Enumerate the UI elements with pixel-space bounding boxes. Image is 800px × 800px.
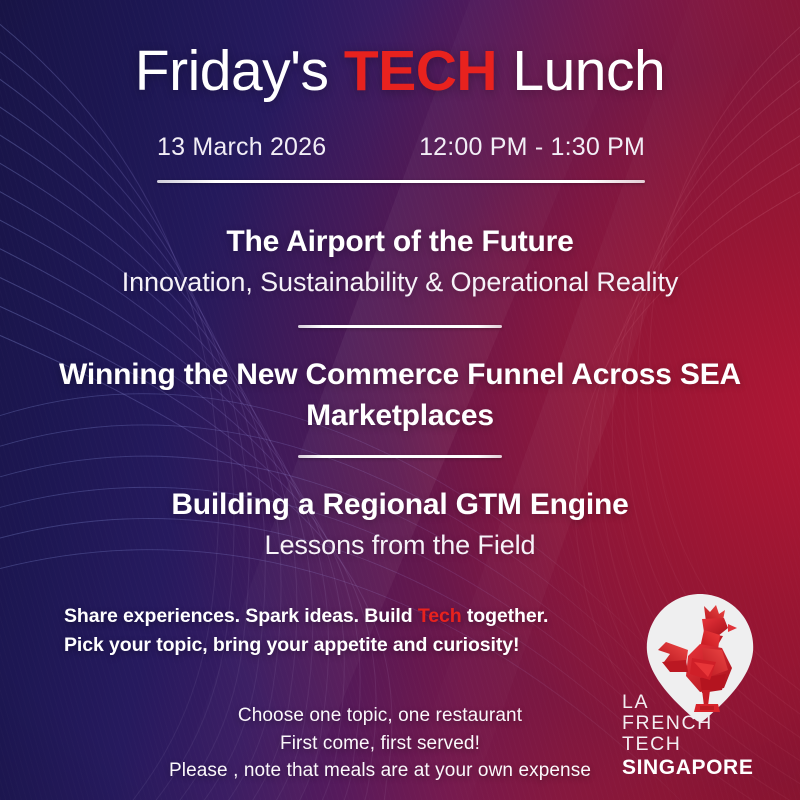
logo-line-singapore: SINGAPORE <box>622 757 778 780</box>
event-date: 13 March 2026 <box>157 133 326 162</box>
pitch-line-1-part-a: Share experiences. Spark ideas. Build <box>64 605 418 627</box>
pitch-line-1: Share experiences. Spark ideas. Build Te… <box>64 602 548 631</box>
topic-1: The Airport of the Future Innovation, Su… <box>0 224 800 299</box>
pitch-line-1-highlight-tech: Tech <box>418 605 462 627</box>
divider-topic-1 <box>298 325 502 328</box>
logo-wordmark: LA FRENCH TECH SINGAPORE <box>622 692 778 780</box>
pitch-line-2: Pick your topic, bring your appetite and… <box>64 631 548 660</box>
pitch-block: Share experiences. Spark ideas. Build Te… <box>64 602 548 661</box>
topic-3-heading: Building a Regional GTM Engine <box>0 487 800 524</box>
topic-1-heading: The Airport of the Future <box>0 224 800 261</box>
divider-header <box>157 180 645 183</box>
topic-2: Winning the New Commerce Funnel Across S… <box>0 355 800 436</box>
logo-line-french-tech: FRENCH TECH <box>622 713 778 755</box>
logo-line-la: LA <box>622 692 778 713</box>
divider-topic-2 <box>298 455 502 458</box>
la-french-tech-logo: LA FRENCH TECH SINGAPORE <box>616 592 784 788</box>
topic-1-subheading: Innovation, Sustainability & Operational… <box>0 266 800 300</box>
topic-3-subheading: Lessons from the Field <box>0 529 800 563</box>
topic-2-heading: Winning the New Commerce Funnel Across S… <box>0 355 800 436</box>
pitch-line-1-part-b: together. <box>462 605 549 627</box>
poster-title: Friday's TECH Lunch <box>0 41 800 101</box>
title-highlight-tech: TECH <box>344 39 497 103</box>
event-meta-row: 13 March 2026 12:00 PM - 1:30 PM <box>157 133 645 162</box>
title-part-1: Friday's <box>135 39 344 103</box>
event-poster: Friday's TECH Lunch 13 March 2026 12:00 … <box>0 0 800 800</box>
title-part-2: Lunch <box>497 39 665 103</box>
event-time: 12:00 PM - 1:30 PM <box>419 133 645 162</box>
topic-3: Building a Regional GTM Engine Lessons f… <box>0 487 800 562</box>
